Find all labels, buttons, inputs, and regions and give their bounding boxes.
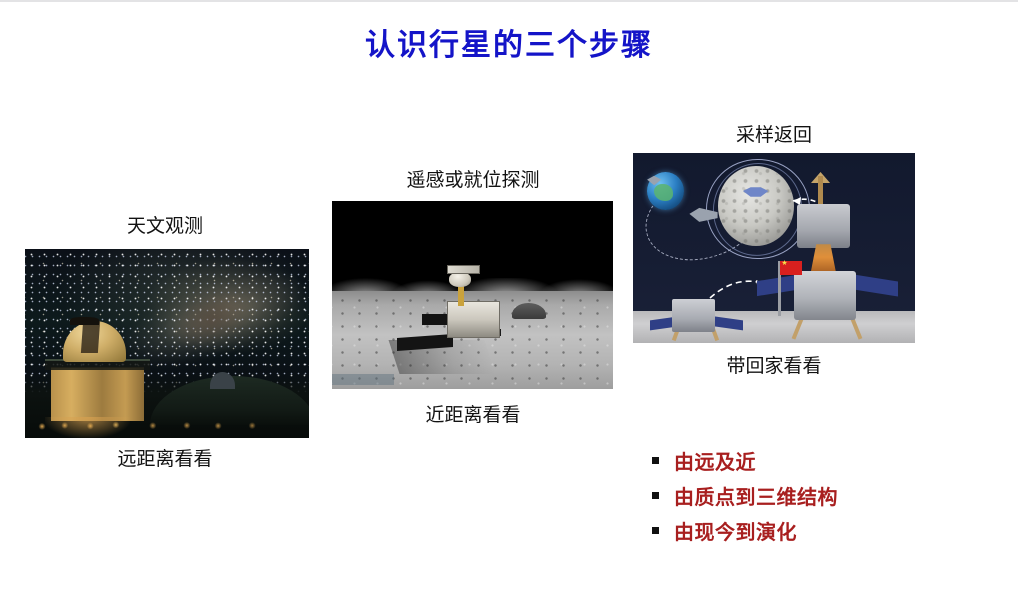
slide-top-divider <box>0 0 1018 2</box>
lander-solar-panel-left <box>757 275 796 296</box>
lunar-lander <box>794 271 856 320</box>
square-bullet-icon <box>652 527 674 534</box>
list-item: 由质点到三维结构 <box>652 478 992 513</box>
bullet-label: 由质点到三维结构 <box>674 481 838 510</box>
lunar-rover-surface-photo <box>332 201 613 389</box>
column-heading-astronomical-observation: 天文观测 <box>65 211 265 238</box>
observatory-building <box>51 367 145 421</box>
ascender-mast <box>818 176 824 206</box>
caption-close-distance-look: 近距离看看 <box>373 400 573 427</box>
page-title: 认识行星的三个步骤 <box>0 20 1018 64</box>
bullet-label: 由远及近 <box>674 446 756 475</box>
observatory-night-sky-photo <box>25 249 309 438</box>
ascent-vehicle <box>797 204 851 248</box>
list-item: 由远及近 <box>652 443 992 478</box>
presentation-slide: 认识行星的三个步骤 天文观测 远距离看看 遥感或就位探测 近距离看看 <box>0 0 1018 607</box>
lander-solar-panel-right <box>853 275 898 297</box>
second-lander <box>672 299 714 331</box>
sample-return-mission-diagram <box>633 153 915 343</box>
bullet-label: 由现今到演化 <box>674 516 797 545</box>
square-bullet-icon <box>652 492 674 499</box>
bullet-list: 由远及近 由质点到三维结构 由现今到演化 <box>652 443 992 548</box>
rover-antenna <box>447 265 480 275</box>
column-heading-remote-sensing: 遥感或就位探测 <box>373 165 573 192</box>
caption-bring-home-look: 带回家看看 <box>674 351 874 378</box>
rover-instrument-head <box>449 272 471 287</box>
square-bullet-icon <box>652 457 674 464</box>
list-item: 由现今到演化 <box>652 513 992 548</box>
dome-slit <box>81 321 100 353</box>
caption-far-distance-look: 远距离看看 <box>65 444 265 471</box>
moon-craters <box>718 166 794 246</box>
dome-antenna <box>70 317 98 325</box>
rover-body <box>447 301 500 339</box>
ascent-vehicle-plume <box>811 244 836 273</box>
china-flag-icon <box>780 261 803 274</box>
rover-mast <box>458 284 464 307</box>
foreground-shadow <box>332 374 394 385</box>
ground-lamps <box>25 415 309 434</box>
column-heading-sample-return: 采样返回 <box>674 120 874 147</box>
